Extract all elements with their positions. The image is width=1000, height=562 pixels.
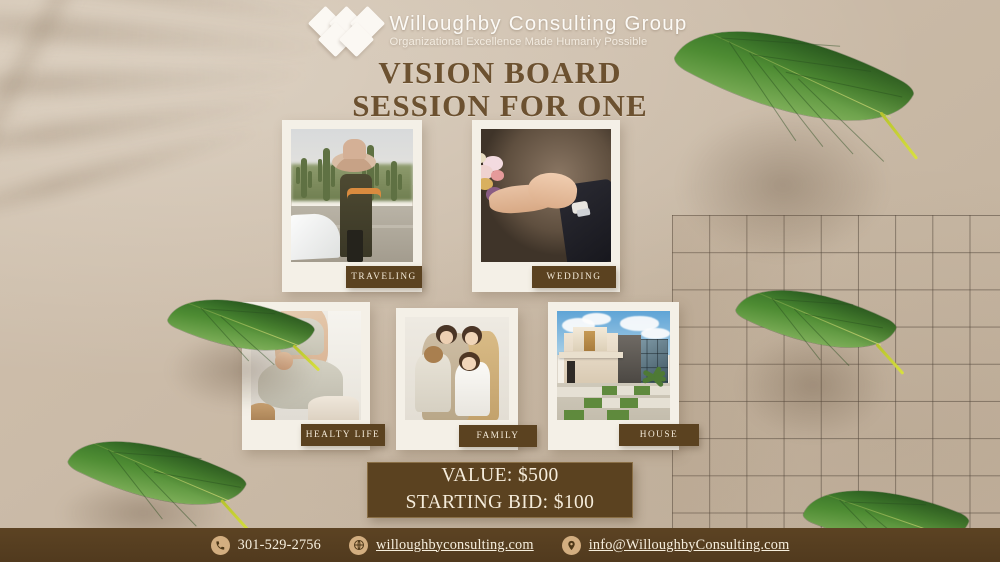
leaf-left-lower-icon [66, 406, 248, 540]
page-title-line-1: VISION BOARD [0, 56, 1000, 89]
page-title: VISION BOARD SESSION FOR ONE [0, 56, 1000, 122]
location-pin-icon [562, 536, 581, 555]
brand-header: Willoughby Consulting Group Organization… [0, 9, 1000, 53]
photo-healty-life [251, 311, 361, 420]
footer-phone[interactable]: 301-529-2756 [211, 536, 321, 555]
phone-number: 301-529-2756 [238, 537, 321, 554]
vision-card-label-traveling: TRAVELING [346, 266, 422, 288]
footer-email[interactable]: info@WilloughbyConsulting.com [562, 536, 790, 555]
vision-card-label-wedding: WEDDING [532, 266, 616, 288]
vision-board-flyer: Willoughby Consulting Group Organization… [0, 0, 1000, 562]
photo-wedding [481, 129, 611, 262]
palm-plant [643, 363, 668, 387]
photo-traveling [291, 129, 413, 262]
email-link[interactable]: info@WilloughbyConsulting.com [589, 537, 790, 554]
page-title-line-2: SESSION FOR ONE [0, 89, 1000, 122]
vision-card-label-health: HEALTY LIFE [301, 424, 385, 446]
vision-card-label-family: FAMILY [459, 425, 537, 447]
phone-icon [211, 536, 230, 555]
brand-tagline: Organizational Excellence Made Humanly P… [390, 35, 688, 49]
contact-footer: 301-529-2756 willoughbyconsulting.com in… [0, 528, 1000, 562]
value-box: VALUE: $500 STARTING BID: $100 [367, 462, 633, 518]
leaf-mid-right-icon [734, 258, 898, 380]
photo-family [405, 317, 509, 420]
graph-paper-grid [672, 215, 1000, 535]
footer-website[interactable]: willoughbyconsulting.com [349, 536, 534, 555]
starting-bid-amount: STARTING BID: $100 [406, 490, 595, 517]
value-amount: VALUE: $500 [441, 463, 558, 490]
website-link[interactable]: willoughbyconsulting.com [376, 537, 534, 554]
brand-name: Willoughby Consulting Group [390, 13, 688, 35]
vision-card-label-house: HOUSE [619, 424, 699, 446]
diamond-cluster-logo-icon [313, 9, 381, 53]
photo-house [557, 311, 670, 420]
globe-icon [349, 536, 368, 555]
